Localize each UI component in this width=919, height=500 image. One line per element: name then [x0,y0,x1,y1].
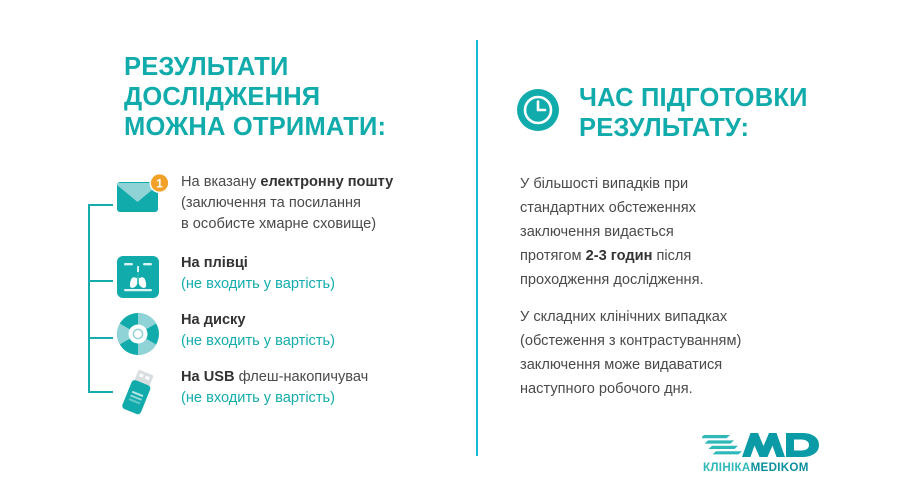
list-item-text: На плівці (не входить у вартість) [181,253,466,295]
list-item-line: На плівці [181,253,466,274]
bracket-tick-1 [88,204,113,206]
clock-icon [516,88,560,132]
right-heading: ЧАС ПІДГОТОВКИ РЕЗУЛЬТАТУ: [579,83,808,143]
list-item-note: (не входить у вартість) [181,274,466,295]
bracket-spine [88,204,90,393]
text-part-bold: електронну пошту [260,174,393,190]
options-bracket [88,204,118,393]
list-item-text: На USB флеш-накопичувач (не входить у ва… [181,367,466,409]
bracket-tick-2 [88,280,113,282]
md-logo-mark-icon [702,431,822,461]
text-part: На вказану [181,174,260,190]
left-heading-line-2: ДОСЛІДЖЕННЯ [124,82,454,112]
paragraph-line: стандартних обстеженнях [520,196,900,220]
bracket-tick-4 [88,391,113,393]
text-part-bold: 2-3 годин [586,248,653,264]
text-part: після [652,248,691,264]
lungs-xray-icon [116,253,168,305]
paragraph-line: заключення видається [520,220,900,244]
text-part: протягом [520,248,586,264]
list-item-note: (не входить у вартість) [181,331,466,352]
list-item-line: в особисте хмарне сховище) [181,214,466,235]
list-item-line: На USB флеш-накопичувач [181,367,466,388]
left-column: РЕЗУЛЬТАТИ ДОСЛІДЖЕННЯ МОЖНА ОТРИМАТИ: [0,0,476,500]
text-part-bold: На USB [181,369,235,385]
paragraph-line: заключення може видаватися [520,353,900,377]
right-heading-line-2: РЕЗУЛЬТАТУ: [579,113,808,143]
right-heading-line-1: ЧАС ПІДГОТОВКИ [579,83,808,113]
paragraph-line: (обстеження з контрастуванням) [520,329,900,353]
envelope-icon: 1 [116,172,168,224]
right-paragraph-2: У складних клінічних випадках (обстеженн… [520,305,900,401]
logo-wordmark: КЛІНІКАMEDIKOM [703,461,809,474]
list-item-line: На вказану електронну пошту [181,172,466,193]
right-column: ЧАС ПІДГОТОВКИ РЕЗУЛЬТАТУ: У більшості в… [476,0,919,500]
text-part: флеш-накопичувач [235,369,369,385]
clinic-logo: КЛІНІКАMEDIKOM [702,431,822,479]
paragraph-line: наступного робочого дня. [520,377,900,401]
left-heading-line-1: РЕЗУЛЬТАТИ [124,52,454,82]
list-item-line: (заключення та посилання [181,193,466,214]
paragraph-line: У більшості випадків при [520,172,900,196]
left-heading: РЕЗУЛЬТАТИ ДОСЛІДЖЕННЯ МОЖНА ОТРИМАТИ: [124,52,454,142]
list-item-note: (не входить у вартість) [181,388,466,409]
list-item-text: На диску (не входить у вартість) [181,310,466,352]
left-heading-line-3: МОЖНА ОТРИМАТИ: [124,112,454,142]
infographic-canvas: РЕЗУЛЬТАТИ ДОСЛІДЖЕННЯ МОЖНА ОТРИМАТИ: [0,0,919,500]
list-item-line: На диску [181,310,466,331]
email-badge-count: 1 [156,177,163,191]
compact-disc-icon [116,310,168,362]
right-paragraph-1: У більшості випадків при стандартних обс… [520,172,900,292]
logo-word-klinika: КЛІНІКА [703,461,751,474]
bracket-tick-3 [88,337,113,339]
usb-flash-drive-icon [116,367,168,419]
paragraph-line: протягом 2-3 годин після [520,244,900,268]
list-item-text: На вказану електронну пошту (заключення … [181,172,466,235]
paragraph-line: проходження дослідження. [520,268,900,292]
logo-word-medikom: MEDIKOM [751,461,809,474]
paragraph-line: У складних клінічних випадках [520,305,900,329]
